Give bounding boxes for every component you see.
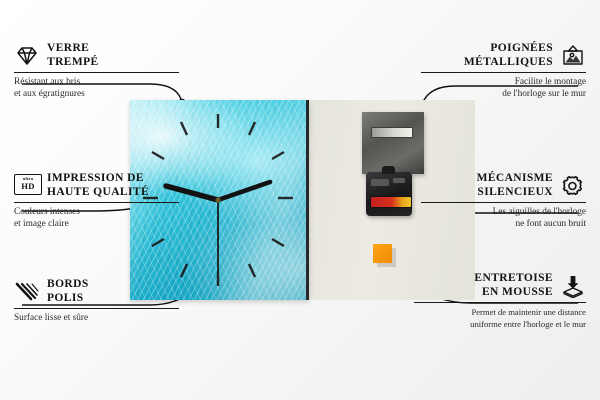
feature-title-line1: POIGNÉES: [490, 42, 553, 54]
feature-title-line2: TREMPÉ: [47, 56, 99, 68]
diagonal-lines-icon: [14, 280, 40, 304]
feature-bords-polis: BORDS POLIS Surface lisse et sûre: [14, 278, 179, 325]
feature-desc-line1: Couleurs intenses: [14, 207, 80, 217]
feature-title-line2: HAUTE QUALITÉ: [47, 186, 149, 198]
feature-impression-haute-qualite: ultra HD IMPRESSION DE HAUTE QUALITÉ Cou…: [14, 172, 179, 230]
feature-desc-line1: Surface lisse et sûre: [14, 313, 88, 323]
movement-marking: [393, 178, 405, 183]
hanger-slot: [371, 127, 413, 138]
feature-desc-line1: Résistant aux bris: [14, 77, 80, 87]
feature-title-line1: IMPRESSION DE: [47, 172, 144, 184]
ultra-hd-icon-main-label: HD: [21, 182, 35, 191]
feature-verre-trempe: VERRE TREMPÉ Résistant aux bris et aux é…: [14, 42, 179, 100]
feature-desc-line1: Permet de maintenir une distance: [471, 307, 586, 317]
foam-spacer-part: [373, 244, 392, 263]
feature-desc-line2: et aux égratignures: [14, 89, 85, 99]
feature-title-line1: VERRE: [47, 42, 89, 54]
feature-entretoise-en-mousse: ENTRETOISE EN MOUSSE Permet de maintenir…: [414, 272, 586, 330]
divider: [14, 202, 179, 203]
ultra-hd-icon: ultra HD: [14, 174, 40, 198]
quartz-movement-part: [366, 172, 412, 216]
feature-desc-line2: uniforme entre l'horloge et le mur: [470, 319, 586, 329]
feature-desc-line2: de l'horloge sur le mur: [502, 89, 586, 99]
feature-poignees-metalliques: POIGNÉES MÉTALLIQUES Facilite le montage…: [421, 42, 586, 100]
divider: [14, 308, 179, 309]
feature-desc-line2: ne font aucun bruit: [516, 219, 586, 229]
diamond-icon: [14, 44, 40, 68]
divider: [421, 72, 586, 73]
feature-title-line1: ENTRETOISE: [474, 272, 553, 284]
feature-title-line2: MÉTALLIQUES: [464, 56, 553, 68]
feature-title-line2: SILENCIEUX: [477, 186, 553, 198]
divider: [14, 72, 179, 73]
gear-icon: [560, 174, 586, 198]
feature-desc-line2: et image claire: [14, 219, 69, 229]
feature-title-line2: EN MOUSSE: [482, 286, 553, 298]
feature-desc-line1: Facilite le montage: [515, 77, 586, 87]
press-down-pad-icon: [560, 274, 586, 298]
feature-title-line1: MÉCANISME: [477, 172, 553, 184]
minute-hand: [218, 182, 270, 200]
feature-title-line2: POLIS: [47, 292, 84, 304]
divider: [414, 302, 586, 303]
feature-title-line1: BORDS: [47, 278, 89, 290]
aa-battery: [370, 196, 412, 208]
divider: [421, 202, 586, 203]
feature-desc-line1: Les aiguilles de l'horloge: [493, 207, 586, 217]
movement-label: [371, 179, 389, 186]
clock-center-cap: [215, 197, 220, 202]
movement-shaft: [382, 166, 395, 174]
framed-picture-icon: [560, 44, 586, 68]
feature-mecanisme-silencieux: MÉCANISME SILENCIEUX Les aiguilles de l'…: [421, 172, 586, 230]
infographic-root: VERRE TREMPÉ Résistant aux bris et aux é…: [0, 0, 600, 400]
metallic-hanger-part: [362, 112, 424, 174]
